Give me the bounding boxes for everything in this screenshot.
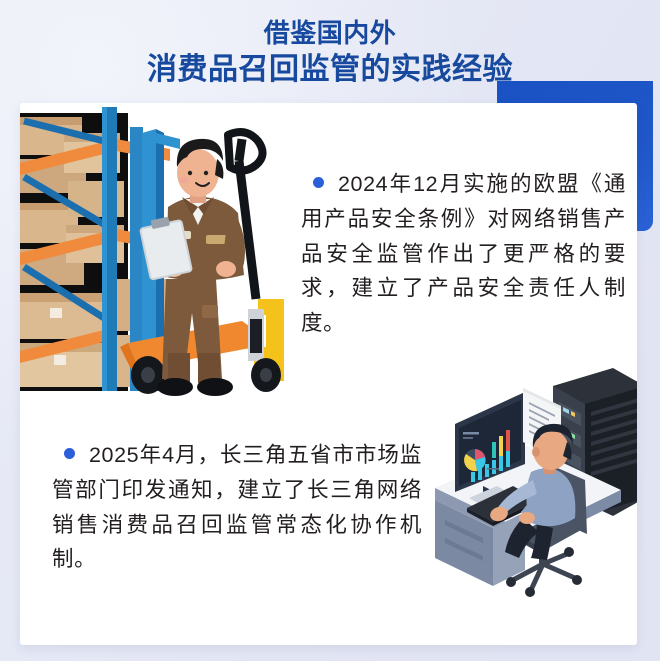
bullet-dot-icon (313, 177, 324, 188)
page-title-line-2: 消费品召回监管的实践经验 (0, 50, 660, 90)
page-title-line-1: 借鉴国内外 (0, 16, 660, 50)
paragraph-yangtze-delta-text: 2025年4月，长三角五省市市场监管部门印发通知，建立了长三角网络销售消费品召回… (52, 443, 422, 571)
page-title: 借鉴国内外 消费品召回监管的实践经验 (0, 16, 660, 90)
warehouse-worker-illustration (20, 103, 298, 408)
bullet-dot-icon (64, 448, 75, 459)
paragraph-eu-gpsr-text: 2024年12月实施的欧盟《通用产品安全条例》对网络销售产品安全监管作出了更严格… (301, 172, 626, 335)
paragraph-yangtze-delta: 2025年4月，长三角五省市市场监管部门印发通知，建立了长三角网络销售消费品召回… (52, 438, 422, 577)
office-server-illustration (435, 368, 637, 603)
content-card: 2024年12月实施的欧盟《通用产品安全条例》对网络销售产品安全监管作出了更严格… (20, 103, 637, 645)
paragraph-eu-gpsr: 2024年12月实施的欧盟《通用产品安全条例》对网络销售产品安全监管作出了更严格… (301, 167, 626, 341)
